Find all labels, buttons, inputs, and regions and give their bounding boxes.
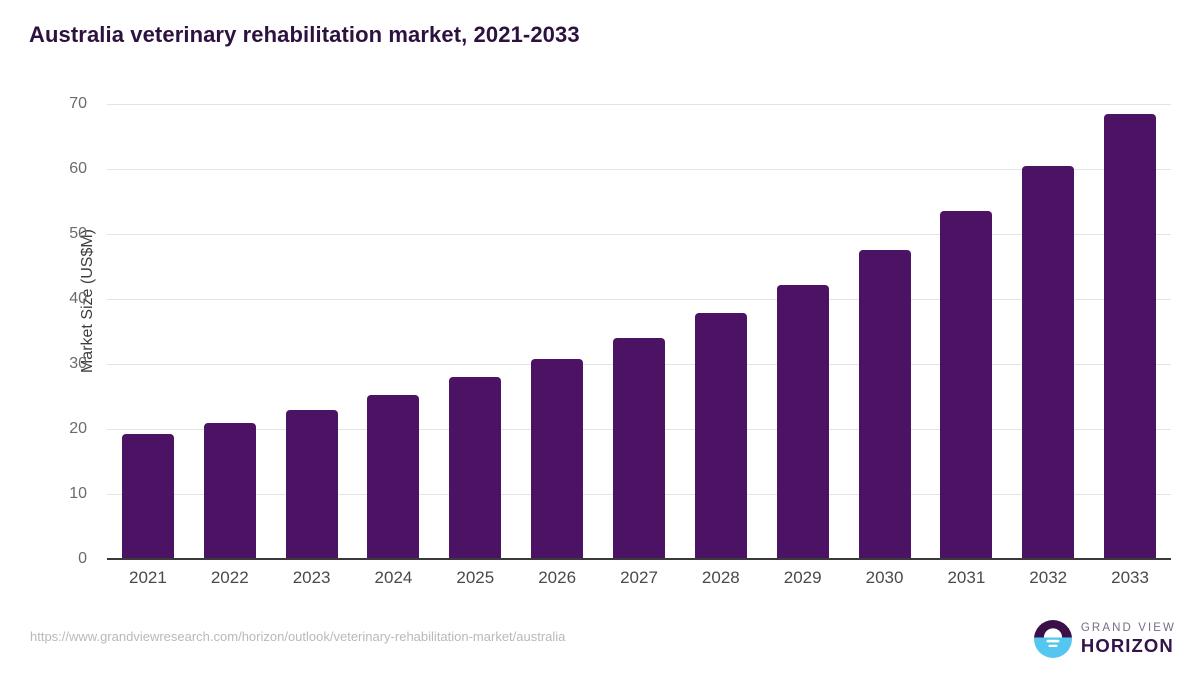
bar[interactable] — [1104, 114, 1156, 559]
gridline — [107, 169, 1171, 170]
y-tick-label: 30 — [47, 355, 87, 373]
y-tick-label: 60 — [47, 160, 87, 178]
y-tick-label: 0 — [47, 550, 87, 568]
bar[interactable] — [859, 250, 911, 559]
bar[interactable] — [940, 211, 992, 559]
x-tick-label: 2029 — [762, 568, 844, 588]
x-tick-label: 2024 — [352, 568, 434, 588]
bar[interactable] — [613, 338, 665, 559]
gridline — [107, 104, 1171, 105]
logo-bottom-text: HORIZON — [1081, 637, 1176, 656]
bar[interactable] — [367, 395, 419, 559]
y-tick-label: 10 — [47, 485, 87, 503]
x-tick-label: 2033 — [1089, 568, 1171, 588]
x-tick-label: 2025 — [434, 568, 516, 588]
y-tick-label: 40 — [47, 290, 87, 308]
y-tick-label: 20 — [47, 420, 87, 438]
x-tick-label: 2022 — [189, 568, 271, 588]
x-axis-line — [107, 558, 1171, 560]
chart-card: Australia veterinary rehabilitation mark… — [0, 0, 1200, 675]
bar[interactable] — [777, 285, 829, 559]
y-tick-label: 50 — [47, 225, 87, 243]
x-tick-label: 2021 — [107, 568, 189, 588]
horizon-circle-icon — [1034, 620, 1072, 658]
bar[interactable] — [449, 377, 501, 559]
page-title: Australia veterinary rehabilitation mark… — [29, 22, 580, 48]
logo-wordmark: GRAND VIEW HORIZON — [1081, 623, 1176, 656]
x-tick-label: 2027 — [598, 568, 680, 588]
y-axis-tick-labels: 010203040506070 — [47, 104, 87, 559]
gridline — [107, 299, 1171, 300]
x-tick-label: 2023 — [271, 568, 353, 588]
x-tick-label: 2031 — [925, 568, 1007, 588]
plot-area — [107, 104, 1171, 559]
source-url[interactable]: https://www.grandviewresearch.com/horizo… — [30, 629, 565, 644]
bar[interactable] — [204, 423, 256, 560]
bar[interactable] — [695, 313, 747, 559]
bar[interactable] — [122, 434, 174, 559]
x-tick-label: 2028 — [680, 568, 762, 588]
gridline — [107, 234, 1171, 235]
bar[interactable] — [1022, 166, 1074, 559]
x-tick-label: 2026 — [516, 568, 598, 588]
x-tick-label: 2032 — [1007, 568, 1089, 588]
logo-top-text: GRAND VIEW — [1081, 623, 1176, 635]
bar[interactable] — [531, 359, 583, 559]
y-tick-label: 70 — [47, 95, 87, 113]
bar[interactable] — [286, 410, 338, 560]
x-axis-tick-labels: 2021202220232024202520262027202820292030… — [107, 568, 1171, 596]
grand-view-horizon-logo[interactable]: GRAND VIEW HORIZON — [1034, 620, 1176, 658]
x-tick-label: 2030 — [844, 568, 926, 588]
